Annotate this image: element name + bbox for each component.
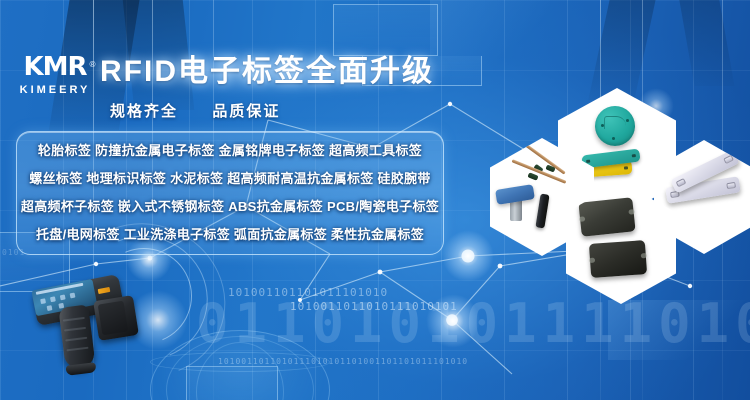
registered-trademark-icon: ® — [89, 50, 96, 80]
reader-screen-icon-1 — [40, 298, 46, 304]
reader-grip-ridge-4 — [66, 347, 88, 352]
brand-mark: KMR ® — [23, 52, 86, 82]
teal-tag-hole-right — [632, 154, 636, 157]
black-cylinder-tag — [535, 194, 549, 229]
disc-hole-2 — [626, 119, 629, 122]
reader-grip-base — [66, 362, 97, 376]
reader-grip-ridge-2 — [64, 327, 86, 332]
reader-antenna-face — [98, 301, 129, 336]
product-row-4: 托盘/电网标签 工业洗涤电子标签 弧面抗金属标签 柔性抗金属标签 — [17, 221, 443, 249]
page-title: RFID电子标签全面升级 — [100, 52, 434, 92]
brand-name: KIMEERY — [12, 82, 98, 98]
teal-tag-hole-left — [586, 160, 590, 163]
disc-hole-1 — [601, 124, 604, 127]
dark-tag-2-notch-right — [641, 253, 647, 258]
rfid-promo-banner: 011010101111010101 101001101101011101010… — [0, 0, 750, 400]
disc-hole-3 — [612, 137, 615, 140]
reader-screen-icon-2 — [50, 296, 56, 302]
brand-logo[interactable]: KMR ® KIMEERY — [12, 52, 98, 110]
yellow-tag-hole-right — [624, 166, 628, 169]
product-row-3: 超高频杯子标签 嵌入式不锈钢标签 ABS抗金属标签 PCB/陶瓷电子标签 — [17, 193, 443, 221]
reader-antenna-module — [93, 295, 139, 341]
brand-mark-text: KMR — [23, 52, 86, 82]
reader-screen-icon-5 — [47, 305, 53, 311]
product-row-1: 轮胎标签 防撞抗金属电子标签 金属铭牌电子标签 超高频工具标签 — [17, 137, 443, 165]
dark-tag-1-notch-left — [579, 216, 585, 222]
dark-anti-metal-tag-2 — [589, 240, 647, 278]
glass-tube-tag-2 — [512, 159, 567, 184]
glow-node-a — [442, 230, 494, 282]
product-row-2: 螺丝标签 地理标识标签 水泥标签 超高频耐高温抗金属标签 硅胶腕带 — [17, 165, 443, 193]
reader-grip-ridge-1 — [63, 317, 85, 322]
reader-screen-statusbar — [36, 283, 84, 295]
disc-emboss — [604, 116, 626, 129]
reader-screen-icon-3 — [60, 294, 66, 300]
teal-disc-tag — [595, 106, 635, 146]
glow-node-b — [426, 294, 480, 348]
dark-tag-1-notch-right — [628, 209, 634, 215]
dark-tag-2-notch-left — [589, 258, 595, 263]
blue-screw-tag — [495, 184, 535, 205]
subtitle-right: 品质保证 — [212, 103, 280, 120]
reader-grip-ridge-3 — [65, 337, 87, 342]
subtitle: 规格齐全 品质保证 — [110, 100, 280, 121]
white-tag-2-pad-left — [676, 178, 687, 187]
handheld-rfid-reader[interactable] — [34, 276, 156, 382]
dark-anti-metal-tag-1 — [578, 197, 635, 236]
subtitle-left: 规格齐全 — [110, 103, 178, 120]
white-tag-2-pad-right — [723, 155, 734, 164]
white-tag-1-pad-right — [726, 182, 736, 189]
glass-tube-chip-2 — [527, 172, 538, 180]
reader-screen-icon-4 — [70, 293, 76, 299]
product-list-panel: 轮胎标签 防撞抗金属电子标签 金属铭牌电子标签 超高频工具标签 螺丝标签 地理标… — [16, 131, 444, 255]
